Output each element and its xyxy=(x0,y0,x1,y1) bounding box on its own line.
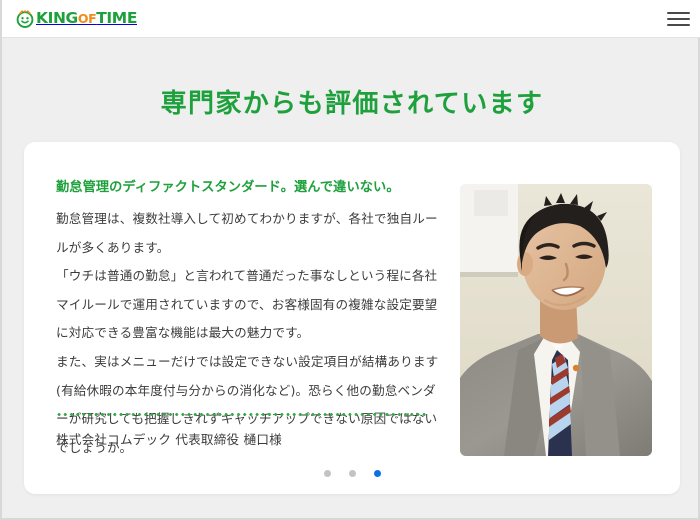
brand-name: KINGOFTIME xyxy=(36,9,137,28)
site-header: KINGOFTIME xyxy=(2,0,700,38)
page-title: 専門家からも評価されています xyxy=(2,87,700,121)
brand-of: OF xyxy=(78,11,96,26)
brand-king: KING xyxy=(36,9,78,27)
testimonial-card: 勤怠管理のディファクトスタンダード。選んで違いない。 勤怠管理は、複数社導入して… xyxy=(24,142,680,494)
browser-page-frame: KINGOFTIME 専門家からも評価されています 勤怠管理のディファクトスタン… xyxy=(0,0,700,520)
hamburger-line-3 xyxy=(667,24,690,27)
brand-logo-link[interactable]: KINGOFTIME xyxy=(16,9,137,28)
hamburger-line-2 xyxy=(667,18,690,21)
testimonial-paragraph: 勤怠管理は、複数社導入して初めてわかりますが、各社で独自ルールが多くあります。 xyxy=(56,205,448,262)
carousel-dots xyxy=(24,470,680,477)
testimonial-paragraph: 「ウチは普通の勤怠」と言われて普通だった事なしという程に各社マイルールで運用され… xyxy=(56,262,448,348)
clock-face-icon xyxy=(16,10,34,28)
carousel-dot-2[interactable] xyxy=(349,470,356,477)
hamburger-menu-icon[interactable] xyxy=(667,10,691,28)
portrait-photo xyxy=(460,184,652,456)
testimonial-heading: 勤怠管理のディファクトスタンダード。選んで違いない。 xyxy=(56,178,446,197)
testimonial-attribution: 株式会社コムデック 代表取締役 樋口様 xyxy=(56,430,282,450)
brand-time: TIME xyxy=(96,9,137,27)
hamburger-line-1 xyxy=(667,12,690,15)
carousel-dot-3[interactable] xyxy=(374,470,381,477)
testimonial-body: 勤怠管理は、複数社導入して初めてわかりますが、各社で独自ルールが多くあります。 … xyxy=(56,205,448,462)
carousel-dot-1[interactable] xyxy=(324,470,331,477)
dotted-divider xyxy=(56,413,426,416)
